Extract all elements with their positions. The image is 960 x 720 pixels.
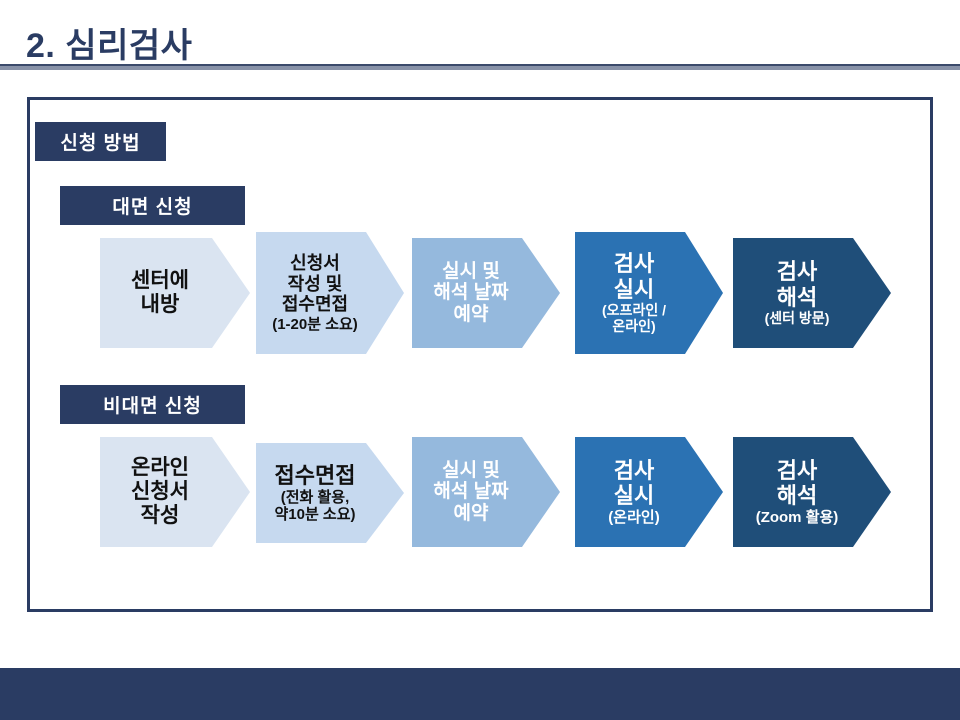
flow-step-title: 검사 해석	[777, 458, 817, 508]
title-divider	[0, 64, 960, 70]
flow-step-title: 실시 및 해석 날짜 예약	[433, 460, 508, 525]
flow-step-detail: (1-20분 소요)	[272, 316, 358, 333]
page-title: 2. 심리검사	[26, 18, 192, 67]
section-tag-offline-application: 대면 신청	[60, 186, 245, 225]
flow-step-detail: (센터 방문)	[765, 311, 830, 327]
section-tag-online-application: 비대면 신청	[60, 385, 245, 424]
flow-step-title: 검사 실시	[614, 251, 654, 301]
flow-step-detail: (온라인)	[608, 509, 659, 526]
flow-step-detail: (전화 활용, 약10분 소요)	[274, 489, 355, 523]
flow-step-title: 검사 실시	[614, 458, 654, 508]
flow-step-title: 온라인 신청서 작성	[131, 456, 189, 528]
flow-step-title: 접수면접	[275, 463, 356, 488]
flow-step-title: 실시 및 해석 날짜 예약	[433, 261, 508, 326]
flow-step-title: 센터에 내방	[131, 269, 189, 317]
flow-step-title: 신청서 작성 및 접수면접	[282, 253, 348, 315]
section-tag-application-method: 신청 방법	[35, 122, 166, 161]
flow-step-detail: (Zoom 활용)	[756, 509, 839, 526]
flow-step-title: 검사 해석	[777, 259, 817, 309]
footer-bar	[0, 668, 960, 720]
flow-step-detail: (오프라인 / 온라인)	[602, 303, 666, 335]
